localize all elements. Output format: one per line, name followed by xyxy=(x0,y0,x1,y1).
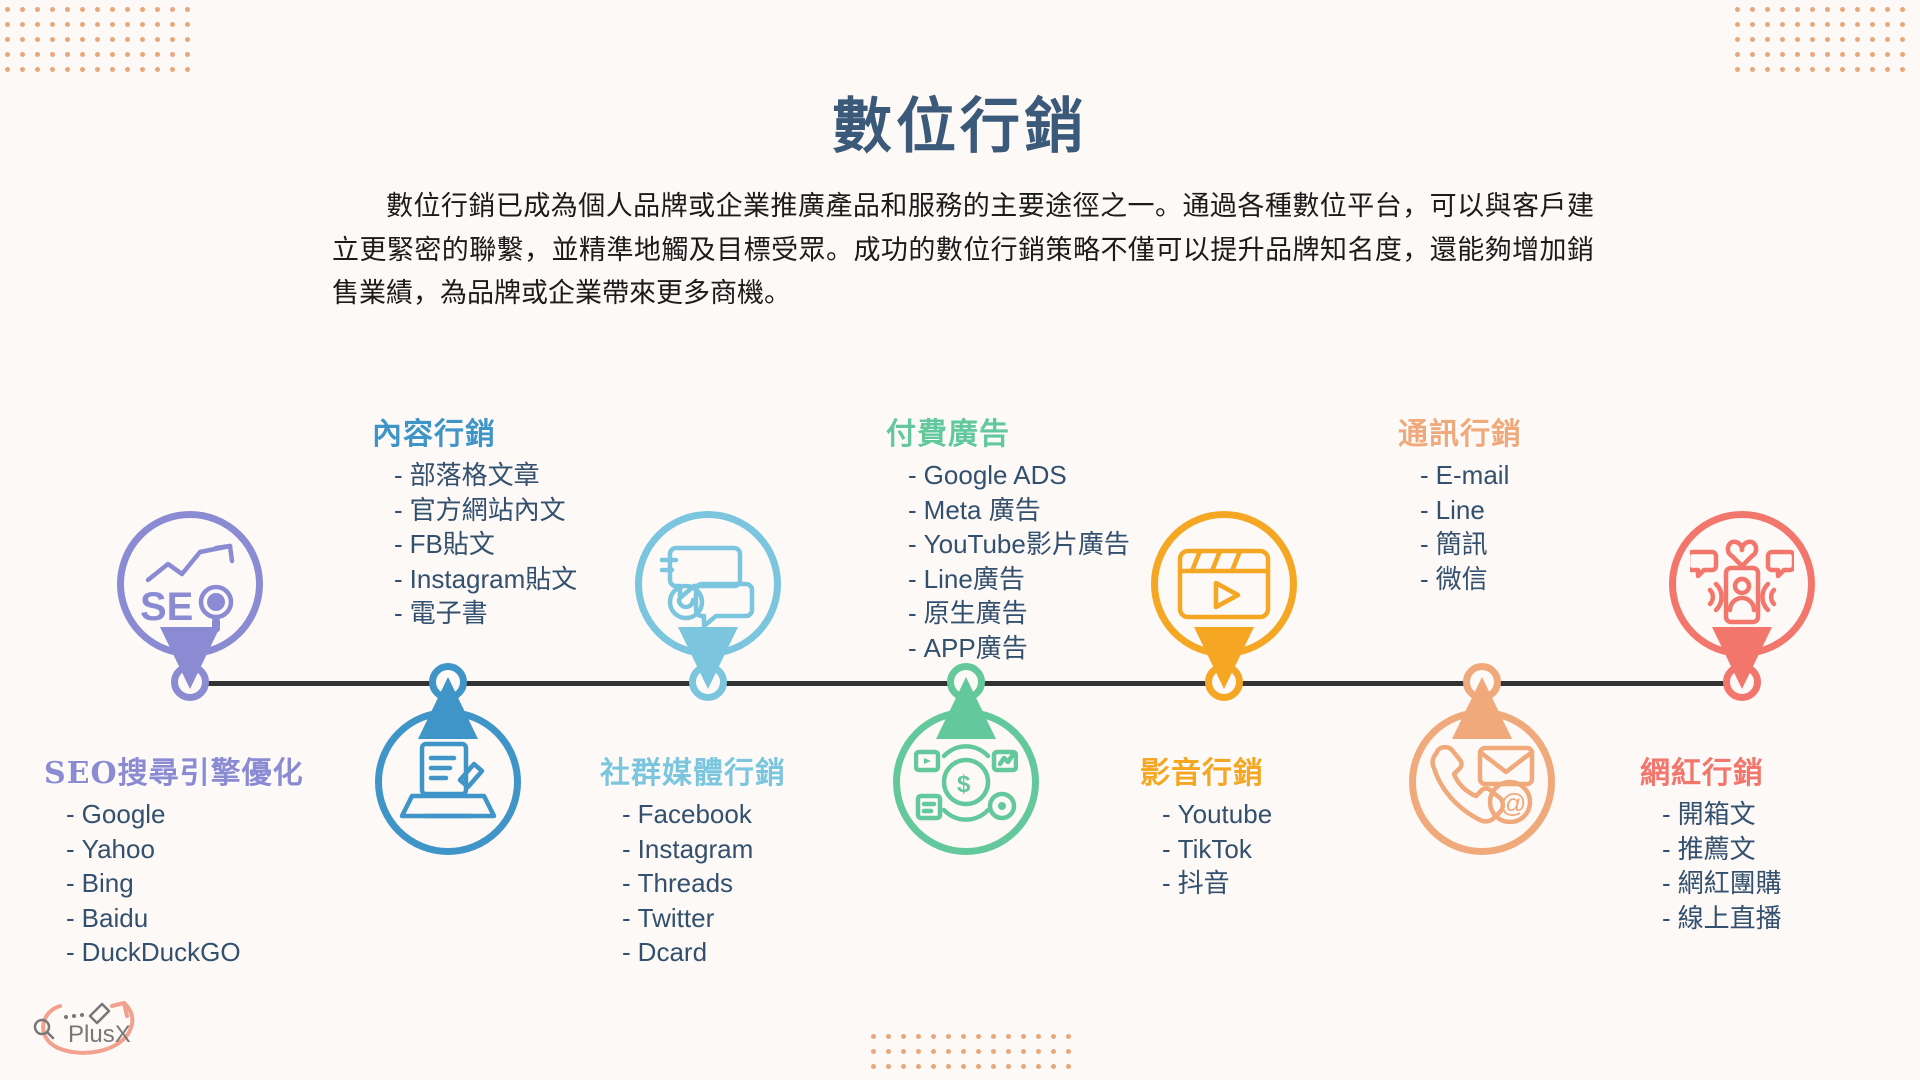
list-item: -網紅團購 xyxy=(1640,866,1782,901)
decorative-dot xyxy=(1765,37,1770,42)
list-dash: - xyxy=(394,495,403,525)
list-dash: - xyxy=(1162,868,1171,898)
decorative-dot xyxy=(155,37,160,42)
chat-bubbles-icon xyxy=(658,540,758,628)
list-item: -APP廣告 xyxy=(886,631,1130,666)
block-list-seo: -Google-Yahoo-Bing-Baidu-DuckDuckGO xyxy=(44,797,304,970)
list-item: -Yahoo xyxy=(44,832,304,867)
list-dash: - xyxy=(1662,903,1671,933)
decorative-dot xyxy=(95,52,100,57)
info-block-video-marketing: 影音行銷-Youtube-TikTok-抖音 xyxy=(1140,748,1272,901)
icon-pin-social-media-marketing[interactable] xyxy=(635,511,781,689)
decorative-dot xyxy=(80,7,85,12)
decorative-dot xyxy=(140,37,145,42)
list-item: -線上直播 xyxy=(1640,901,1782,936)
decorative-dot xyxy=(1900,7,1905,12)
list-item: -E-mail xyxy=(1398,458,1522,493)
block-title-social-media-marketing: 社群媒體行銷 xyxy=(600,748,786,792)
list-item: -Meta 廣告 xyxy=(886,493,1130,528)
list-item-label: Bing xyxy=(82,868,134,898)
decorative-dot xyxy=(1825,67,1830,72)
decorative-dot xyxy=(1795,67,1800,72)
decorative-dot xyxy=(1735,7,1740,12)
decorative-dot xyxy=(1840,37,1845,42)
list-dash: - xyxy=(394,529,403,559)
block-title-paid-advertising: 付費廣告 xyxy=(886,409,1130,453)
list-item-label: 部落格文章 xyxy=(410,460,540,490)
decorative-dot xyxy=(50,7,55,12)
decorative-dot xyxy=(80,37,85,42)
svg-text:$: $ xyxy=(957,771,971,798)
decorative-dot xyxy=(1750,37,1755,42)
icon-pin-paid-advertising[interactable]: $ xyxy=(893,677,1039,855)
list-item-label: Instagram xyxy=(638,834,754,864)
list-dash: - xyxy=(394,564,403,594)
decorative-dot xyxy=(1006,1064,1011,1069)
decorative-dot xyxy=(95,7,100,12)
pin-tail-social-media-marketing xyxy=(678,627,738,689)
list-dash: - xyxy=(908,564,917,594)
list-dash: - xyxy=(908,529,917,559)
list-item: -DuckDuckGO xyxy=(44,935,304,970)
list-item: -官方網站內文 xyxy=(372,493,577,528)
list-item-label: FB貼文 xyxy=(410,529,495,559)
mobile-influencer-icon xyxy=(1690,538,1794,630)
list-item-label: DuckDuckGO xyxy=(82,937,241,967)
list-item-label: TikTok xyxy=(1178,834,1252,864)
ads-screen-icon: $ xyxy=(914,738,1018,826)
decorative-dot xyxy=(140,22,145,27)
decorative-dot xyxy=(170,67,175,72)
list-dash: - xyxy=(1420,564,1429,594)
decorative-dot xyxy=(5,67,10,72)
list-item: -Instagram貼文 xyxy=(372,562,577,597)
list-dash: - xyxy=(66,799,75,829)
decorative-dot xyxy=(95,67,100,72)
pluscx-logo: PlusX xyxy=(24,990,152,1062)
info-block-seo: SEO搜尋引擎優化-Google-Yahoo-Bing-Baidu-DuckDu… xyxy=(44,748,304,970)
decorative-dot xyxy=(961,1049,966,1054)
decorative-dot xyxy=(125,37,130,42)
decorative-dot xyxy=(170,37,175,42)
svg-text:SE: SE xyxy=(140,585,193,629)
decorative-dot xyxy=(1885,7,1890,12)
video-player-icon xyxy=(1174,545,1274,623)
decorative-dot xyxy=(991,1049,996,1054)
list-item: -Line xyxy=(1398,493,1522,528)
decorative-dot xyxy=(185,7,190,12)
decorative-dot xyxy=(35,52,40,57)
decorative-dot xyxy=(1825,37,1830,42)
decorative-dot xyxy=(1066,1049,1071,1054)
decorative-dot xyxy=(140,67,145,72)
decorative-dot xyxy=(185,67,190,72)
decorative-dot xyxy=(1885,52,1890,57)
list-dash: - xyxy=(1662,868,1671,898)
decorative-dot xyxy=(5,22,10,27)
decorative-dot xyxy=(125,67,130,72)
list-item: -Twitter xyxy=(600,901,786,936)
list-item-label: Youtube xyxy=(1178,799,1272,829)
decorative-dot xyxy=(1885,37,1890,42)
list-item: -原生廣告 xyxy=(886,596,1130,631)
decorative-dot xyxy=(931,1064,936,1069)
decorative-dot xyxy=(1900,67,1905,72)
decorative-dot xyxy=(1036,1064,1041,1069)
list-item: -簡訊 xyxy=(1398,527,1522,562)
decorative-dot xyxy=(1825,52,1830,57)
info-block-content-marketing: 內容行銷-部落格文章-官方網站內文-FB貼文-Instagram貼文-電子書 xyxy=(372,409,577,631)
decorative-dot xyxy=(65,37,70,42)
decorative-dot xyxy=(65,22,70,27)
decorative-dot xyxy=(1780,52,1785,57)
decorative-dot xyxy=(1066,1064,1071,1069)
decorative-dot xyxy=(1006,1049,1011,1054)
list-item: -開箱文 xyxy=(1640,797,1782,832)
block-list-video-marketing: -Youtube-TikTok-抖音 xyxy=(1140,797,1272,901)
decorative-dot xyxy=(1855,37,1860,42)
decorative-dot xyxy=(80,52,85,57)
decorative-dot xyxy=(155,52,160,57)
list-item-label: 原生廣告 xyxy=(924,598,1028,628)
decorative-dot xyxy=(1795,52,1800,57)
decorative-dot xyxy=(1855,7,1860,12)
decorative-dot xyxy=(65,52,70,57)
list-item-label: Google ADS xyxy=(924,460,1067,490)
decorative-dot xyxy=(961,1034,966,1039)
decorative-dot xyxy=(976,1049,981,1054)
decorative-dot xyxy=(1036,1034,1041,1039)
decorative-dot xyxy=(1840,67,1845,72)
decorative-dot xyxy=(871,1034,876,1039)
list-dash: - xyxy=(66,868,75,898)
decorative-dot xyxy=(1855,67,1860,72)
decorative-dot xyxy=(916,1049,921,1054)
decorative-dot xyxy=(95,37,100,42)
list-item: -Google xyxy=(44,797,304,832)
decorative-dot xyxy=(50,52,55,57)
decorative-dot xyxy=(961,1064,966,1069)
decorative-dot xyxy=(65,7,70,12)
list-item: -Google ADS xyxy=(886,458,1130,493)
decorative-dot xyxy=(1810,52,1815,57)
block-list-communication-marketing: -E-mail-Line-簡訊-微信 xyxy=(1398,458,1522,596)
list-dash: - xyxy=(66,937,75,967)
decorative-dot xyxy=(931,1049,936,1054)
decorative-dot xyxy=(20,52,25,57)
decorative-dot xyxy=(125,52,130,57)
decorative-dot xyxy=(185,22,190,27)
decorative-dot xyxy=(110,37,115,42)
decorative-dot xyxy=(65,67,70,72)
decorative-dot-grid-top-right xyxy=(1730,2,1910,77)
decorative-dot xyxy=(95,22,100,27)
list-dash: - xyxy=(622,937,631,967)
pin-tail-video-marketing xyxy=(1194,627,1254,689)
list-item-label: Google xyxy=(82,799,166,829)
decorative-dot xyxy=(5,37,10,42)
decorative-dot xyxy=(50,37,55,42)
list-dash: - xyxy=(908,495,917,525)
decorative-dot xyxy=(1900,52,1905,57)
decorative-dot xyxy=(20,67,25,72)
block-title-video-marketing: 影音行銷 xyxy=(1140,748,1272,792)
decorative-dot xyxy=(35,67,40,72)
list-dash: - xyxy=(1162,799,1171,829)
svg-text:@: @ xyxy=(1500,788,1526,818)
icon-pin-seo[interactable]: SE xyxy=(117,511,263,689)
decorative-dot xyxy=(1735,37,1740,42)
icon-pin-video-marketing[interactable] xyxy=(1151,511,1297,689)
decorative-dot xyxy=(1765,7,1770,12)
decorative-dot xyxy=(1021,1049,1026,1054)
icon-pin-influencer-marketing[interactable] xyxy=(1669,511,1815,689)
search-pencil-arrow-logo-icon: PlusX xyxy=(24,990,152,1062)
decorative-dot xyxy=(946,1064,951,1069)
list-item: -FB貼文 xyxy=(372,527,577,562)
block-list-paid-advertising: -Google ADS-Meta 廣告-YouTube影片廣告-Line廣告-原… xyxy=(886,458,1130,665)
decorative-dot xyxy=(1825,7,1830,12)
decorative-dot xyxy=(991,1034,996,1039)
decorative-dot xyxy=(1855,22,1860,27)
decorative-dot xyxy=(1885,67,1890,72)
list-dash: - xyxy=(908,460,917,490)
list-item-label: 簡訊 xyxy=(1436,529,1488,559)
list-dash: - xyxy=(1420,529,1429,559)
decorative-dot xyxy=(1840,52,1845,57)
list-item: -Facebook xyxy=(600,797,786,832)
pin-tail-content-marketing xyxy=(418,677,478,739)
decorative-dot xyxy=(35,37,40,42)
list-item: -Instagram xyxy=(600,832,786,867)
list-item-label: APP廣告 xyxy=(924,633,1028,663)
info-block-social-media-marketing: 社群媒體行銷-Facebook-Instagram-Threads-Twitte… xyxy=(600,748,786,970)
list-item-label: 官方網站內文 xyxy=(410,495,566,525)
list-dash: - xyxy=(622,868,631,898)
list-dash: - xyxy=(1420,495,1429,525)
decorative-dot xyxy=(1795,37,1800,42)
phone-email-icon: @ xyxy=(1428,740,1536,824)
list-item: -抖音 xyxy=(1140,866,1272,901)
decorative-dot xyxy=(901,1064,906,1069)
decorative-dot xyxy=(916,1064,921,1069)
block-title-influencer-marketing: 網紅行銷 xyxy=(1640,748,1782,792)
icon-pin-content-marketing[interactable] xyxy=(375,677,521,855)
decorative-dot xyxy=(916,1034,921,1039)
decorative-dot xyxy=(110,52,115,57)
decorative-dot xyxy=(1885,22,1890,27)
decorative-dot xyxy=(1870,67,1875,72)
decorative-dot xyxy=(1825,22,1830,27)
decorative-dot xyxy=(1900,37,1905,42)
decorative-dot xyxy=(170,22,175,27)
decorative-dot-grid-top-left xyxy=(0,2,195,77)
pin-tail-influencer-marketing xyxy=(1712,627,1772,689)
list-item: -Threads xyxy=(600,866,786,901)
decorative-dot xyxy=(1900,22,1905,27)
list-item: -微信 xyxy=(1398,562,1522,597)
info-block-influencer-marketing: 網紅行銷-開箱文-推薦文-網紅團購-線上直播 xyxy=(1640,748,1782,935)
list-item-label: E-mail xyxy=(1436,460,1510,490)
decorative-dot xyxy=(871,1049,876,1054)
block-title-communication-marketing: 通訊行銷 xyxy=(1398,409,1522,453)
decorative-dot xyxy=(170,52,175,57)
list-item-label: Yahoo xyxy=(82,834,155,864)
list-dash: - xyxy=(1162,834,1171,864)
list-item-label: Dcard xyxy=(638,937,707,967)
decorative-dot-grid-bottom xyxy=(866,1029,1076,1074)
list-item: -Line廣告 xyxy=(886,562,1130,597)
decorative-dot xyxy=(1750,52,1755,57)
decorative-dot xyxy=(871,1064,876,1069)
list-dash: - xyxy=(908,633,917,663)
list-item-label: Threads xyxy=(638,868,733,898)
list-dash: - xyxy=(1662,834,1671,864)
list-dash: - xyxy=(66,903,75,933)
list-item-label: 開箱文 xyxy=(1678,799,1756,829)
decorative-dot xyxy=(886,1049,891,1054)
list-item-label: YouTube影片廣告 xyxy=(924,529,1130,559)
list-item-label: Facebook xyxy=(638,799,752,829)
decorative-dot xyxy=(931,1034,936,1039)
decorative-dot xyxy=(976,1034,981,1039)
decorative-dot xyxy=(1051,1064,1056,1069)
decorative-dot xyxy=(110,7,115,12)
decorative-dot xyxy=(140,52,145,57)
block-list-content-marketing: -部落格文章-官方網站內文-FB貼文-Instagram貼文-電子書 xyxy=(372,458,577,631)
decorative-dot xyxy=(1795,22,1800,27)
logo-text: PlusX xyxy=(68,1021,131,1048)
list-item-label: 線上直播 xyxy=(1678,903,1782,933)
list-item-label: Line xyxy=(1436,495,1485,525)
decorative-dot xyxy=(1810,37,1815,42)
decorative-dot xyxy=(1810,22,1815,27)
intro-paragraph: 數位行銷已成為個人品牌或企業推廣產品和服務的主要途徑之一。通過各種數位平台，可以… xyxy=(332,185,1594,316)
decorative-dot xyxy=(1006,1034,1011,1039)
pin-tail-paid-advertising xyxy=(936,677,996,739)
decorative-dot xyxy=(5,52,10,57)
decorative-dot xyxy=(901,1034,906,1039)
pin-tail-communication-marketing xyxy=(1452,677,1512,739)
decorative-dot xyxy=(170,7,175,12)
page-title: 數位行銷 xyxy=(0,78,1920,165)
decorative-dot xyxy=(110,22,115,27)
decorative-dot xyxy=(1810,7,1815,12)
block-list-influencer-marketing: -開箱文-推薦文-網紅團購-線上直播 xyxy=(1640,797,1782,935)
decorative-dot xyxy=(1780,37,1785,42)
decorative-dot xyxy=(20,22,25,27)
decorative-dot xyxy=(886,1034,891,1039)
icon-pin-communication-marketing[interactable]: @ xyxy=(1409,677,1555,855)
decorative-dot xyxy=(1870,7,1875,12)
decorative-dot xyxy=(1765,22,1770,27)
info-block-paid-advertising: 付費廣告-Google ADS-Meta 廣告-YouTube影片廣告-Line… xyxy=(886,409,1130,665)
decorative-dot xyxy=(110,67,115,72)
decorative-dot xyxy=(50,22,55,27)
list-dash: - xyxy=(908,598,917,628)
decorative-dot xyxy=(1750,67,1755,72)
decorative-dot xyxy=(185,37,190,42)
decorative-dot xyxy=(35,22,40,27)
block-list-social-media-marketing: -Facebook-Instagram-Threads-Twitter-Dcar… xyxy=(600,797,786,970)
decorative-dot xyxy=(5,7,10,12)
list-item: -部落格文章 xyxy=(372,458,577,493)
list-item: -電子書 xyxy=(372,596,577,631)
list-item-label: 抖音 xyxy=(1178,868,1230,898)
list-dash: - xyxy=(394,598,403,628)
list-dash: - xyxy=(622,903,631,933)
decorative-dot xyxy=(1735,52,1740,57)
decorative-dot xyxy=(80,67,85,72)
list-item-label: Line廣告 xyxy=(924,564,1025,594)
decorative-dot xyxy=(1051,1034,1056,1039)
decorative-dot xyxy=(1021,1034,1026,1039)
block-title-seo: SEO搜尋引擎優化 xyxy=(44,748,304,792)
info-block-communication-marketing: 通訊行銷-E-mail-Line-簡訊-微信 xyxy=(1398,409,1522,596)
list-item-label: Twitter xyxy=(638,903,715,933)
decorative-dot xyxy=(125,7,130,12)
decorative-dot xyxy=(1066,1034,1071,1039)
decorative-dot xyxy=(1870,37,1875,42)
decorative-dot xyxy=(1855,52,1860,57)
list-item: -Dcard xyxy=(600,935,786,970)
decorative-dot xyxy=(1765,52,1770,57)
decorative-dot xyxy=(1021,1064,1026,1069)
decorative-dot xyxy=(1765,67,1770,72)
decorative-dot xyxy=(946,1034,951,1039)
decorative-dot xyxy=(1735,67,1740,72)
decorative-dot xyxy=(20,7,25,12)
list-item-label: 電子書 xyxy=(410,598,488,628)
decorative-dot xyxy=(20,37,25,42)
decorative-dot xyxy=(80,22,85,27)
list-item: -Youtube xyxy=(1140,797,1272,832)
list-dash: - xyxy=(622,834,631,864)
list-dash: - xyxy=(394,460,403,490)
decorative-dot xyxy=(1780,22,1785,27)
list-item-label: 微信 xyxy=(1436,564,1488,594)
decorative-dot xyxy=(125,22,130,27)
decorative-dot xyxy=(946,1049,951,1054)
decorative-dot xyxy=(35,7,40,12)
decorative-dot xyxy=(155,22,160,27)
decorative-dot xyxy=(1840,22,1845,27)
decorative-dot xyxy=(50,67,55,72)
decorative-dot xyxy=(1750,7,1755,12)
list-dash: - xyxy=(66,834,75,864)
list-item-label: Baidu xyxy=(82,903,149,933)
block-title-content-marketing: 內容行銷 xyxy=(372,409,577,453)
decorative-dot xyxy=(1870,22,1875,27)
decorative-dot xyxy=(901,1049,906,1054)
decorative-dot xyxy=(886,1064,891,1069)
seo-magnifier-icon: SE xyxy=(138,536,242,632)
list-item: -TikTok xyxy=(1140,832,1272,867)
list-item: -Bing xyxy=(44,866,304,901)
pin-tail-seo xyxy=(160,627,220,689)
decorative-dot xyxy=(1870,52,1875,57)
decorative-dot xyxy=(155,7,160,12)
list-dash: - xyxy=(622,799,631,829)
list-item: -YouTube影片廣告 xyxy=(886,527,1130,562)
decorative-dot xyxy=(1795,7,1800,12)
list-item: -Baidu xyxy=(44,901,304,936)
decorative-dot xyxy=(976,1064,981,1069)
list-item-label: Instagram貼文 xyxy=(410,564,578,594)
decorative-dot xyxy=(1840,7,1845,12)
decorative-dot xyxy=(1810,67,1815,72)
decorative-dot xyxy=(1735,22,1740,27)
